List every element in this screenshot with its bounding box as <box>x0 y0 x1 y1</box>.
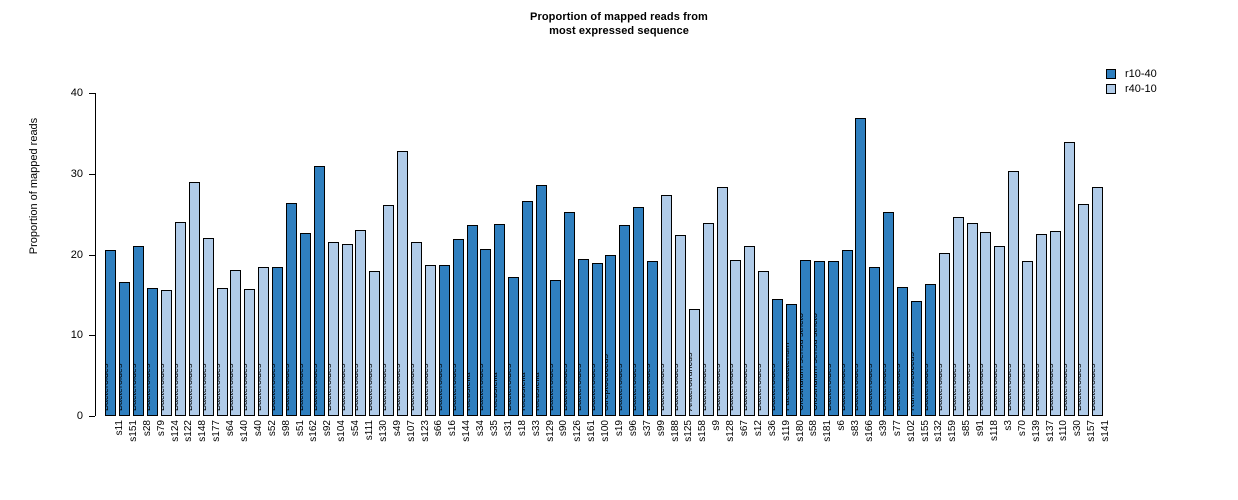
bar: Bacteroides <box>328 242 339 416</box>
bar-genus-label: Bacteroides <box>1036 363 1041 411</box>
x-axis-tick-label: s39 <box>879 420 889 436</box>
page-title: Proportion of mapped reads from most exp… <box>0 10 1238 38</box>
bar-genus-label: Bacteroides <box>730 363 735 411</box>
bar: Bacteroides <box>772 299 783 416</box>
bar: Bacteroides <box>355 230 366 416</box>
bar: Bacteroides <box>258 267 269 416</box>
x-axis-tick-label: s58 <box>809 420 819 436</box>
bar-genus-label: Bacteroides <box>230 363 235 411</box>
bar: Bacteroides <box>675 235 686 416</box>
bar: Klebsiella <box>536 185 547 416</box>
bar: Bacteroides <box>133 246 144 416</box>
bar: Bacteroides <box>369 271 380 416</box>
x-axis-tick-label: s35 <box>490 420 500 436</box>
chart-legend: r10-40r40-10 <box>1106 66 1226 96</box>
bar-genus-label: Bacteroides <box>855 363 860 411</box>
x-axis-tick-label: s9 <box>712 420 722 431</box>
x-axis-tick-label: s6 <box>837 420 847 431</box>
bar: Bacteroides <box>439 265 450 416</box>
x-axis-tick-label: s130 <box>379 420 389 442</box>
bar: Bacteroides <box>828 261 839 416</box>
x-axis-tick-label: s66 <box>434 420 444 436</box>
bar-genus-label: Ruminococcus <box>911 352 916 411</box>
bar: Bacteroides <box>1036 234 1047 416</box>
bar: Bacteroides <box>564 212 575 416</box>
bar-genus-label: Bacteroides <box>1078 363 1083 411</box>
bar-genus-label: Bacteroides <box>1064 363 1069 411</box>
x-axis-tick-label: s132 <box>934 420 944 442</box>
bar-genus-label: Bacteroides <box>925 363 930 411</box>
plot-area: BacteroidesBacteroidesBacteroidesBactero… <box>104 93 1104 416</box>
bar-genus-label: Bacteroides <box>675 363 680 411</box>
bar: Bacteroides <box>508 277 519 416</box>
bar-genus-label: Anaerotruncus <box>689 352 694 411</box>
bar-genus-label: Bacteroides <box>272 363 277 411</box>
x-axis-tick-label: s51 <box>296 420 306 436</box>
bar: Bacteroides <box>1050 231 1061 416</box>
bar-genus-label: Bacteroides <box>1092 363 1097 411</box>
y-axis-tick-label: 20 <box>43 250 83 261</box>
bar-genus-label: Clostridium sensu stricto <box>814 313 819 411</box>
x-axis-tick-label: s157 <box>1087 420 1097 442</box>
bar-genus-label: Bacteroides <box>133 363 138 411</box>
bar: Bacteroides <box>758 271 769 416</box>
bar: Bacteroides <box>244 289 255 416</box>
bar-genus-label: Bacteroides <box>314 363 319 411</box>
y-axis-tick <box>89 335 95 336</box>
x-axis-tick-label: s125 <box>684 420 694 442</box>
x-axis-tick-label: s139 <box>1032 420 1042 442</box>
bar-genus-label: Bacteroides <box>439 363 444 411</box>
bar-genus-label: Bacteroides <box>508 363 513 411</box>
x-axis-tick-label: s99 <box>657 420 667 436</box>
bar: Bacteroides <box>619 225 630 416</box>
bar: Bacteroides <box>730 260 741 416</box>
bar: Bacteroides <box>550 280 561 416</box>
bar: Bacteroides <box>286 203 297 416</box>
y-axis-tick <box>89 174 95 175</box>
x-axis-tick-label: s137 <box>1046 420 1056 442</box>
x-axis-tick-label: s37 <box>643 420 653 436</box>
bar-genus-label: Bacteroides <box>217 363 222 411</box>
x-axis-tick-label: s128 <box>726 420 736 442</box>
x-axis-tick-label: s92 <box>323 420 333 436</box>
x-axis-tick-label: s100 <box>601 420 611 442</box>
bar-genus-label: Bacteroides <box>953 363 958 411</box>
x-axis-tick-label: s31 <box>504 420 514 436</box>
bar-genus-label: Bacteroides <box>328 363 333 411</box>
x-axis-tick-labels: s11s151s28s79s124s122s148s177s64s140s40s… <box>104 420 1104 490</box>
bar: Bacteroides <box>980 232 991 416</box>
x-axis-tick-label: s3 <box>1004 420 1014 431</box>
bar-genus-label: Bacteroides <box>383 363 388 411</box>
bar: Bacteroides <box>1064 142 1075 416</box>
bar: Klebsiella <box>494 224 505 416</box>
y-axis-tick-label: 40 <box>43 88 83 99</box>
bar: Bacteroides <box>967 223 978 416</box>
x-axis-tick-label: s161 <box>587 420 597 442</box>
x-axis-tick-label: s28 <box>143 420 153 436</box>
x-axis-tick-label: s124 <box>171 420 181 442</box>
x-axis-tick-label: s98 <box>282 420 292 436</box>
x-axis-tick-label: s49 <box>393 420 403 436</box>
x-axis-tick-label: s91 <box>976 420 986 436</box>
bar-genus-label: Bacteroides <box>980 363 985 411</box>
bar: Bacteroides <box>939 253 950 416</box>
x-axis-tick-label: s70 <box>1018 420 1028 436</box>
bar-genus-label: Bacteroides <box>480 363 485 411</box>
x-axis-tick-label: s162 <box>309 420 319 442</box>
x-axis-tick-label: s111 <box>365 420 375 440</box>
x-axis-tick-label: s16 <box>448 420 458 436</box>
bar-genus-label: Bacteroides <box>897 363 902 411</box>
bar-genus-label: Klebsiella <box>536 372 541 411</box>
bar-genus-label: Bacteroides <box>175 363 180 411</box>
bar: Bacteroides <box>703 223 714 416</box>
x-axis-tick-label: s155 <box>921 420 931 442</box>
bar: Bacteroides <box>869 267 880 416</box>
y-axis-line <box>95 93 96 416</box>
bar: Bacteroides <box>230 270 241 416</box>
y-axis-tick-label: 10 <box>43 330 83 341</box>
bar-genus-label: Bacteroides <box>1008 363 1013 411</box>
x-axis-tick-label: s12 <box>754 420 764 436</box>
x-axis-tick-label: s107 <box>407 420 417 442</box>
x-axis-tick-label: s40 <box>254 420 264 436</box>
bar-genus-label: Klebsiella <box>467 372 472 411</box>
bar-genus-label: Faecalibacterium <box>786 342 791 411</box>
bar-genus-label: Bacteroides <box>147 363 152 411</box>
legend-label: r40-10 <box>1125 83 1157 95</box>
bar-genus-label: Bacteroides <box>1050 363 1055 411</box>
bar: Bacteroides <box>217 288 228 416</box>
bar: Bacteroides <box>480 249 491 416</box>
x-axis-tick-label: s18 <box>518 420 528 436</box>
y-axis-tick <box>89 255 95 256</box>
x-axis-tick-label: s52 <box>268 420 278 436</box>
x-axis-tick-label: s118 <box>990 420 1000 441</box>
bar: Bacteroides <box>425 265 436 416</box>
x-axis-tick-label: s148 <box>198 420 208 442</box>
x-axis-tick-label: s177 <box>212 420 222 442</box>
x-axis-tick-label: s141 <box>1101 420 1111 442</box>
bar-genus-label: Bacteroides <box>842 363 847 411</box>
x-axis-tick-label: s96 <box>629 420 639 436</box>
x-axis-tick-label: s67 <box>740 420 750 436</box>
bar: Bacteroides <box>314 166 325 416</box>
x-axis-tick-label: s77 <box>893 420 903 436</box>
x-axis-tick-label: s85 <box>962 420 972 436</box>
bar-genus-label: Bacteroides <box>772 363 777 411</box>
bar: Bacteroides <box>883 212 894 416</box>
bar: Bacteroides <box>203 238 214 416</box>
bar-genus-label: Bacteroides <box>453 363 458 411</box>
x-axis-tick-label: s33 <box>532 420 542 436</box>
legend-label: r10-40 <box>1125 68 1157 80</box>
y-axis-tick <box>89 416 95 417</box>
bar-genus-label: Bacteroides <box>578 363 583 411</box>
bar: Bacteroides <box>119 282 130 416</box>
bar-genus-label: Klebsiella <box>522 372 527 411</box>
bar: Bacteroides <box>897 287 908 416</box>
bar-genus-label: Bacteroides <box>717 363 722 411</box>
x-axis-tick-label: s34 <box>476 420 486 436</box>
x-axis-tick-label: s159 <box>948 420 958 442</box>
bar: Bacteroides <box>1078 204 1089 416</box>
bar-genus-label: Clostridium sensu stricto <box>800 313 805 411</box>
bar-genus-label: Bacteroides <box>1022 363 1027 411</box>
bar: Bacteroides <box>578 259 589 416</box>
bar-genus-label: Bacteroides <box>258 363 263 411</box>
bar-genus-label: Bacteroides <box>828 363 833 411</box>
x-axis-tick-label: s19 <box>615 420 625 436</box>
bar-genus-label: Bacteroides <box>244 363 249 411</box>
x-axis-tick-label: s119 <box>782 420 792 441</box>
bar-genus-label: Bacteroides <box>564 363 569 411</box>
bar-genus-label: Bacteroides <box>105 363 110 411</box>
legend-item-r40-10: r40-10 <box>1106 81 1226 96</box>
bar: Bacteroides <box>453 239 464 416</box>
bar: Bacteroides <box>1008 171 1019 416</box>
bar: Bacteroides <box>383 205 394 416</box>
bar-genus-label: Bacteroides <box>592 363 597 411</box>
x-axis-tick-label: s11 <box>115 420 125 435</box>
bar: Bacteroides <box>161 290 172 416</box>
x-axis-tick-label: s166 <box>865 420 875 442</box>
y-axis-title: Proportion of mapped reads <box>28 86 40 286</box>
bar: Klebsiella <box>522 201 533 416</box>
x-axis-tick-label: s90 <box>559 420 569 436</box>
x-axis-tick-label: s158 <box>698 420 708 442</box>
bar-genus-label: Bacteroides <box>744 363 749 411</box>
legend-swatch-icon <box>1106 84 1116 94</box>
x-axis-tick-label: s180 <box>796 420 806 442</box>
bar-genus-label: Bacteroides <box>661 363 666 411</box>
x-axis-tick-label: s126 <box>573 420 583 442</box>
bar: Bacteroides <box>953 217 964 416</box>
bar-genus-label: Bacteroides <box>300 363 305 411</box>
x-axis-tick-label: s151 <box>129 420 139 442</box>
bar-genus-label: Klebsiella <box>494 372 499 411</box>
legend-item-r10-40: r10-40 <box>1106 66 1226 81</box>
x-axis-tick-label: s140 <box>240 420 250 442</box>
bar: Bacteroides <box>925 284 936 416</box>
bar: Klebsiella <box>467 225 478 416</box>
bar: Anaerotruncus <box>689 309 700 416</box>
x-axis-tick-label: s188 <box>671 420 681 442</box>
bar: Bacteroides <box>1092 187 1103 416</box>
chart-figure: Proportion of mapped reads from most exp… <box>0 0 1238 500</box>
y-axis-tick <box>89 93 95 94</box>
bar: Bacteroides <box>855 118 866 416</box>
bar: Bacteroides <box>189 182 200 416</box>
bar-genus-label: Bacteroides <box>397 363 402 411</box>
bar-genus-label: Bacteroides <box>189 363 194 411</box>
bar-genus-label: Bacteroides <box>758 363 763 411</box>
bar-genus-label: Bacteroides <box>633 363 638 411</box>
bar-genus-label: Bacteroides <box>369 363 374 411</box>
x-axis-tick-label: s83 <box>851 420 861 436</box>
bar-genus-label: Bacteroides <box>939 363 944 411</box>
bar: Bacteroides <box>842 250 853 416</box>
bar: Bacteroides <box>647 261 658 416</box>
bar-genus-label: Bacteroides <box>703 363 708 411</box>
bar-genus-label: Bacteroides <box>550 363 555 411</box>
bar: Bacteroides <box>272 267 283 416</box>
x-axis-tick-label: s36 <box>768 420 778 436</box>
bar: Bacteroides <box>592 263 603 416</box>
bar-genus-label: Bacteroides <box>119 363 124 411</box>
y-axis-tick-label: 30 <box>43 169 83 180</box>
bar-genus-label: Bacteroides <box>411 363 416 411</box>
bar-genus-label: Streptococcus <box>605 354 610 411</box>
y-axis-tick-label: 0 <box>43 411 83 422</box>
bar-genus-label: Bacteroides <box>883 363 888 411</box>
bar: Bacteroides <box>175 222 186 416</box>
bar-genus-label: Bacteroides <box>994 363 999 411</box>
bar-genus-label: Bacteroides <box>619 363 624 411</box>
bar: Bacteroides <box>147 288 158 416</box>
x-axis-tick-label: s102 <box>907 420 917 442</box>
x-axis-tick-label: s54 <box>351 420 361 436</box>
bar-genus-label: Bacteroides <box>967 363 972 411</box>
bar-genus-label: Bacteroides <box>355 363 360 411</box>
bar: Faecalibacterium <box>786 304 797 416</box>
bar: Bacteroides <box>397 151 408 416</box>
chart-title-line-1: Proportion of mapped reads from <box>0 10 1238 24</box>
x-axis-tick-label: s129 <box>546 420 556 442</box>
bar: Bacteroides <box>717 187 728 416</box>
x-axis-tick-label: s104 <box>337 420 347 442</box>
bar: Bacteroides <box>342 244 353 416</box>
bar: Bacteroides <box>1022 261 1033 416</box>
bar: Clostridium sensu stricto <box>814 261 825 416</box>
chart-title-line-2: most expressed sequence <box>0 24 1238 38</box>
x-axis-tick-label: s110 <box>1059 420 1069 441</box>
x-axis-tick-label: s123 <box>421 420 431 442</box>
bar: Bacteroides <box>105 250 116 416</box>
x-axis-tick-label: s79 <box>157 420 167 436</box>
x-axis-tick-label: s181 <box>823 420 833 442</box>
bar: Ruminococcus <box>911 301 922 416</box>
bar-genus-label: Bacteroides <box>425 363 430 411</box>
bar-genus-label: Bacteroides <box>161 363 166 411</box>
bar: Bacteroides <box>661 195 672 416</box>
bar-genus-label: Bacteroides <box>203 363 208 411</box>
x-axis-tick-label: s144 <box>462 420 472 442</box>
bar-genus-label: Bacteroides <box>869 363 874 411</box>
x-axis-tick-label: s64 <box>226 420 236 436</box>
bar: Bacteroides <box>633 207 644 416</box>
bar-genus-label: Bacteroides <box>286 363 291 411</box>
bar: Streptococcus <box>605 255 616 417</box>
legend-swatch-icon <box>1106 69 1116 79</box>
bar: Bacteroides <box>744 246 755 416</box>
x-axis-tick-label: s122 <box>184 420 194 442</box>
bar: Bacteroides <box>300 233 311 416</box>
bar-genus-label: Bacteroides <box>647 363 652 411</box>
x-axis-tick-label: s30 <box>1073 420 1083 436</box>
bar-genus-label: Bacteroides <box>342 363 347 411</box>
bar: Bacteroides <box>411 242 422 416</box>
bar: Bacteroides <box>994 246 1005 416</box>
bar: Clostridium sensu stricto <box>800 260 811 416</box>
